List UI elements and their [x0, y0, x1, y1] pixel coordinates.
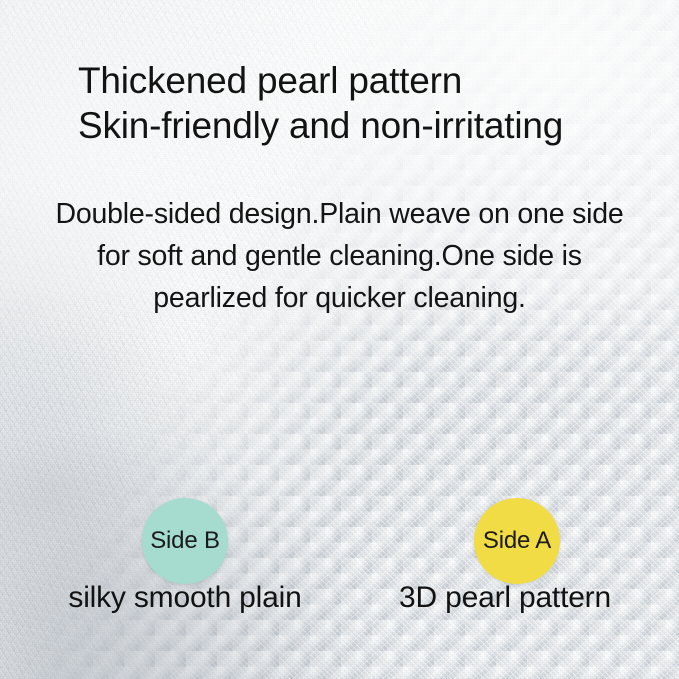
caption-side-b: silky smooth plain [0, 578, 370, 618]
headline-line-2: Skin-friendly and non-irritating [78, 103, 679, 148]
subheadline-line-3: pearlized for quicker cleaning. [18, 277, 661, 319]
badge-side-b-label: Side B [150, 527, 220, 555]
product-feature-poster: Thickened pearl pattern Skin-friendly an… [0, 0, 679, 679]
badge-side-a-label: Side A [483, 527, 551, 555]
badge-side-a: Side A [474, 498, 560, 584]
subheadline: Double-sided design.Plain weave on one s… [18, 193, 661, 319]
badge-side-b: Side B [142, 498, 228, 584]
headline: Thickened pearl pattern Skin-friendly an… [0, 58, 679, 148]
subheadline-line-2: for soft and gentle cleaning.One side is [18, 235, 661, 277]
poster-content: Thickened pearl pattern Skin-friendly an… [0, 0, 679, 679]
headline-line-1: Thickened pearl pattern [78, 58, 679, 103]
caption-side-a: 3D pearl pattern [330, 578, 679, 618]
subheadline-line-1: Double-sided design.Plain weave on one s… [18, 193, 661, 235]
